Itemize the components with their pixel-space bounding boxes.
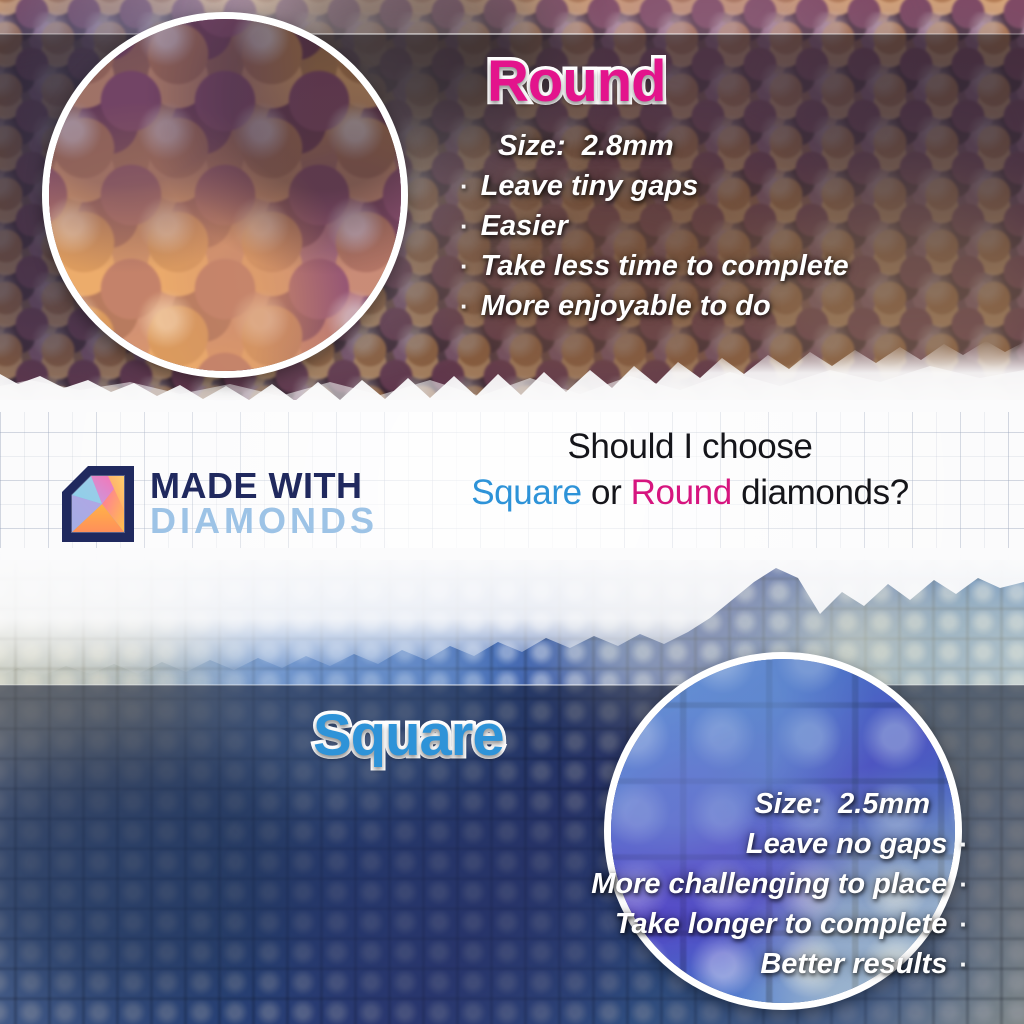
bullet-dot-icon: · (460, 169, 469, 205)
diamond-prism-logo-icon (60, 464, 136, 544)
round-bullet-item: · Easier (460, 206, 849, 246)
bullet-dot-icon: · (460, 289, 469, 325)
square-bullet-text: Leave no gaps (746, 824, 947, 864)
round-heading-text: Round (487, 53, 666, 111)
question-line-1: Should I choose (430, 424, 950, 470)
brand-logo: MADE WITH DIAMONDS (60, 464, 378, 544)
square-bullet-text: Take longer to complete (615, 904, 948, 944)
question-conjunction: or (582, 473, 631, 512)
square-size-label: Size: 2.5mm (591, 785, 930, 824)
logo-bottom-word: DIAMONDS (150, 504, 378, 539)
round-bullet-text: Leave tiny gaps (481, 166, 699, 206)
logo-top-word: MADE WITH (150, 469, 378, 504)
square-bullet-text: Better results (760, 944, 947, 984)
square-bullet-text: More challenging to place (591, 864, 947, 904)
square-bullet-item: Take longer to complete · (591, 904, 968, 944)
round-closeup-inset (42, 12, 408, 378)
square-heading-text: Square (313, 707, 504, 765)
round-size-label: Size: 2.8mm (498, 127, 849, 166)
center-question: Should I choose Square or Round diamonds… (430, 424, 950, 515)
bullet-dot-icon: · (959, 827, 968, 863)
question-tail: diamonds? (732, 473, 909, 512)
question-word-square: Square (471, 473, 581, 512)
round-bullet-text: Take less time to complete (481, 246, 849, 286)
bullet-dot-icon: · (460, 249, 469, 285)
square-bullet-item: Better results · (591, 944, 968, 984)
round-spec-list: Size: 2.8mm · Leave tiny gaps · Easier ·… (460, 127, 849, 326)
round-bullet-item: · Take less time to complete (460, 246, 849, 286)
round-bullet-text: More enjoyable to do (481, 286, 771, 326)
question-line-2: Square or Round diamonds? (430, 470, 950, 516)
square-heading: Square (313, 707, 504, 765)
bullet-dot-icon: · (959, 907, 968, 943)
round-closeup-color-wash (49, 19, 401, 371)
square-spec-list: Size: 2.5mm Leave no gaps · More challen… (591, 785, 968, 984)
bullet-dot-icon: · (959, 947, 968, 983)
question-word-round: Round (631, 473, 732, 512)
round-bullet-item: · More enjoyable to do (460, 286, 849, 326)
brand-logo-wordmark: MADE WITH DIAMONDS (150, 469, 378, 538)
square-bullet-item: More challenging to place · (591, 864, 968, 904)
round-bullet-text: Easier (481, 206, 568, 246)
round-bullet-item: · Leave tiny gaps (460, 166, 849, 206)
bullet-dot-icon: · (460, 209, 469, 245)
infographic-canvas: Round Size: 2.8mm · Leave tiny gaps · Ea… (0, 0, 1024, 1024)
round-heading: Round (487, 53, 666, 111)
bullet-dot-icon: · (959, 867, 968, 903)
square-bullet-item: Leave no gaps · (591, 824, 968, 864)
